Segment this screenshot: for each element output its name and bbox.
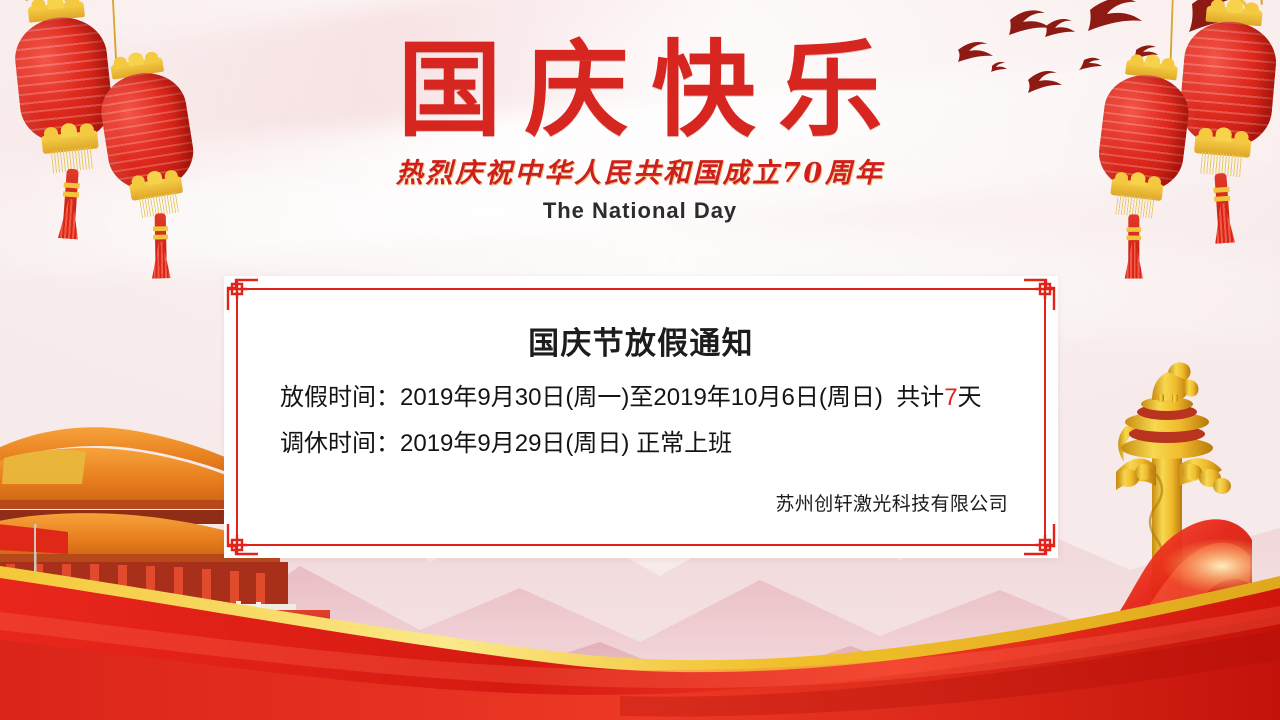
holiday-range: 2019年9月30日(周一)至2019年10月6日(周日) (400, 384, 883, 411)
title-block: 国庆快乐 热烈庆祝中华人民共和国成立70周年 The National Day (0, 36, 1280, 224)
workday-value: 2019年9月29日(周日) 正常上班 (400, 430, 732, 457)
holiday-total-prefix: 共计 (896, 384, 944, 411)
lantern-tassel (1128, 214, 1139, 273)
holiday-total-unit: 天 (958, 384, 982, 411)
corner-ornament-top-left (224, 276, 258, 310)
notice-body: 放假时间：2019年9月30日(周一)至2019年10月6日(周日) 共计7天 … (280, 386, 1012, 478)
notice-title: 国庆节放假通知 (224, 318, 1058, 363)
notice-line-holiday: 放假时间：2019年9月30日(周一)至2019年10月6日(周日) 共计7天 (280, 386, 1012, 410)
national-day-poster: 国庆快乐 热烈庆祝中华人民共和国成立70周年 The National Day (0, 0, 1280, 720)
holiday-total-days: 7 (944, 384, 957, 411)
holiday-label: 放假时间： (280, 384, 400, 411)
corner-ornament-top-right (1024, 276, 1058, 310)
notice-card: 国庆节放假通知 放假时间：2019年9月30日(周一)至2019年10月6日(周… (224, 276, 1058, 558)
workday-label: 调休时间： (280, 430, 400, 457)
notice-line-workday: 调休时间：2019年9月29日(周日) 正常上班 (280, 432, 1012, 456)
company-signature: 苏州创轩激光科技有限公司 (775, 489, 1008, 516)
main-title: 国庆快乐 (23, 36, 1280, 145)
red-silk-wave (0, 520, 1280, 720)
subtitle-english: The National Day (0, 198, 1280, 224)
lantern-tassel (155, 213, 167, 273)
